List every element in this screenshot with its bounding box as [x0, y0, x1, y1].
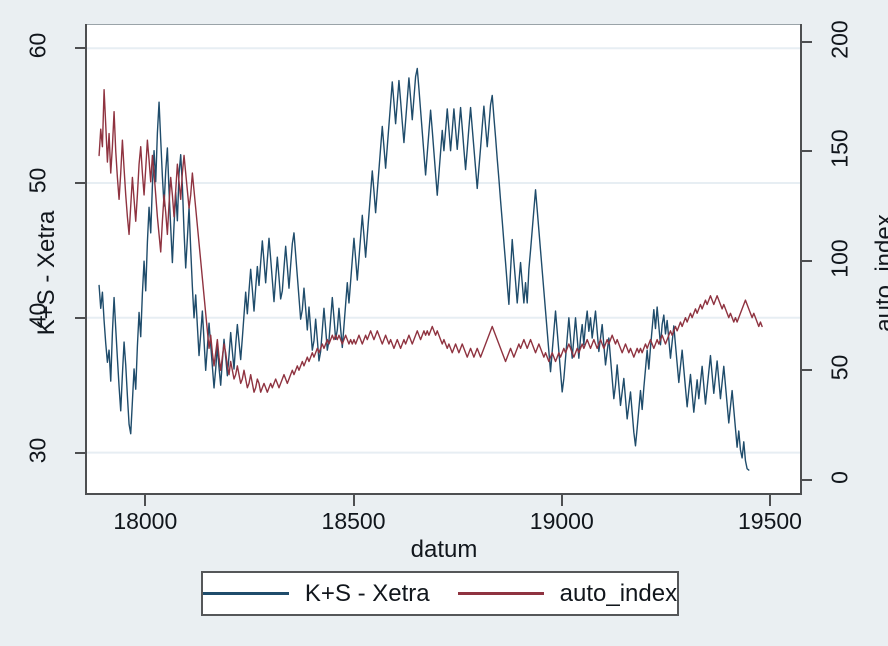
tick-y-right	[801, 369, 812, 371]
y-tick-label-right: 200	[827, 11, 854, 67]
x-tick-label: 19000	[530, 508, 594, 535]
tick-y-right	[801, 150, 812, 152]
x-tick-label: 18500	[322, 508, 386, 535]
legend-swatch-auto-index	[458, 592, 544, 595]
x-tick-label: 19500	[738, 508, 802, 535]
chart-figure: 3040506005010015020018000185001900019500…	[0, 0, 888, 646]
tick-y-right	[801, 260, 812, 262]
legend-label-k-s-xetra: K+S - Xetra	[305, 580, 430, 608]
tick-y-left	[75, 47, 86, 49]
gridlines	[87, 48, 800, 452]
tick-x	[353, 495, 355, 506]
x-axis-title: datum	[0, 536, 888, 564]
y-axis-title-left: K+S - Xetra	[33, 158, 61, 388]
legend-swatch-k-s-xetra	[203, 592, 289, 595]
chart-legend: K+S - Xetra auto_index	[201, 571, 679, 616]
y-axis-title-right: auto_index	[871, 158, 888, 388]
y-tick-label-left: 30	[25, 422, 52, 478]
tick-y-left	[75, 317, 86, 319]
tick-x	[561, 495, 563, 506]
tick-y-left	[75, 452, 86, 454]
plot-area	[87, 24, 800, 493]
tick-y-right	[801, 479, 812, 481]
legend-entry-k-s-xetra[interactable]: K+S - Xetra	[203, 580, 430, 608]
tick-x	[144, 495, 146, 506]
tick-x	[769, 495, 771, 506]
y-tick-label-right: 50	[827, 340, 854, 396]
legend-entry-auto-index[interactable]: auto_index	[458, 580, 677, 608]
y-tick-label-right: 0	[827, 449, 854, 505]
series-lines	[99, 68, 762, 470]
plot-canvas	[87, 24, 800, 493]
legend-label-auto-index: auto_index	[560, 580, 677, 608]
y-tick-label-right: 150	[827, 121, 854, 177]
y-tick-label-right: 100	[827, 230, 854, 286]
axis-spine-top	[85, 24, 802, 25]
x-tick-label: 18000	[113, 508, 177, 535]
tick-y-left	[75, 182, 86, 184]
tick-y-right	[801, 41, 812, 43]
axis-spine-bottom	[85, 493, 802, 495]
y-tick-label-left: 60	[25, 18, 52, 74]
series-line-k-s-xetra	[99, 68, 749, 470]
axis-spine-left	[85, 24, 87, 495]
